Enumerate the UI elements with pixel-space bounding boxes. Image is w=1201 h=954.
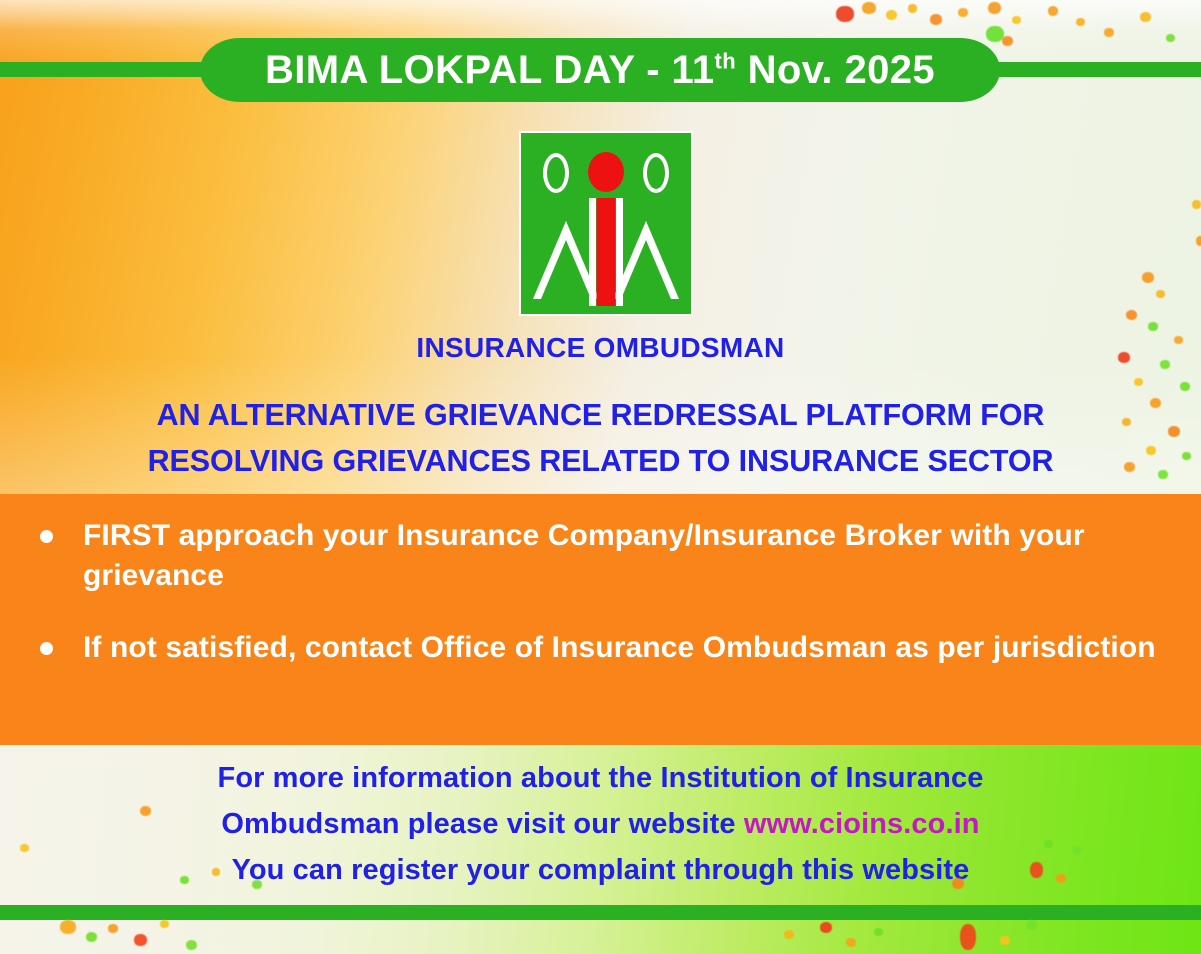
footer-text: For more information about the Instituti… (0, 755, 1201, 893)
banner-title: BIMA LOKPAL DAY - 11th Nov. 2025 (265, 50, 935, 90)
website-link[interactable]: www.cioins.co.in (744, 808, 980, 840)
logo-green-square (521, 133, 691, 314)
footer-line-2-prefix: Ombudsman please visit our website (221, 808, 743, 840)
logo-red-bar-icon (597, 198, 616, 306)
logo-bar-gap-right (616, 198, 623, 306)
footer-background: For more information about the Instituti… (0, 745, 1201, 954)
logo-triangle-right-inner (621, 240, 671, 299)
logo-bar-gap-left (589, 198, 596, 306)
tagline-line-1: AN ALTERNATIVE GRIEVANCE REDRESSAL PLATF… (10, 392, 1191, 438)
step-text: If not satisfied, contact Office of Insu… (83, 628, 1156, 668)
steps-list: FIRST approach your Insurance Company/In… (40, 516, 1171, 700)
list-item: If not satisfied, contact Office of Insu… (40, 628, 1171, 668)
bullet-dot-icon (40, 530, 53, 543)
banner-pill: BIMA LOKPAL DAY - 11th Nov. 2025 (200, 38, 1000, 102)
organisation-name: INSURANCE OMBUDSMAN (0, 332, 1201, 364)
tagline-line-2: RESOLVING GRIEVANCES RELATED TO INSURANC… (10, 438, 1191, 484)
bullet-dot-icon (40, 642, 53, 655)
banner-title-main: BIMA LOKPAL DAY - 11 (265, 48, 715, 92)
step-text: FIRST approach your Insurance Company/In… (83, 516, 1171, 596)
list-item: FIRST approach your Insurance Company/In… (40, 516, 1171, 596)
logo-letter-o-left-icon (543, 153, 569, 193)
banner-title-ordinal: th (715, 49, 737, 74)
insurance-ombudsman-logo (519, 131, 693, 316)
logo-triangle-left-inner (541, 240, 591, 299)
logo-red-dot-icon (588, 152, 624, 192)
tagline: AN ALTERNATIVE GRIEVANCE REDRESSAL PLATF… (10, 392, 1191, 484)
banner-title-tail: Nov. 2025 (736, 48, 935, 92)
footer-line-1: For more information about the Instituti… (0, 755, 1201, 801)
footer-line-2: Ombudsman please visit our website www.c… (0, 801, 1201, 847)
poster-canvas: BIMA LOKPAL DAY - 11th Nov. 2025 INSURAN… (0, 0, 1201, 954)
logo-letter-o-right-icon (643, 153, 669, 193)
footer-line-3: You can register your complaint through … (0, 847, 1201, 893)
steps-band: FIRST approach your Insurance Company/In… (0, 494, 1201, 745)
bottom-green-rule (0, 905, 1201, 920)
